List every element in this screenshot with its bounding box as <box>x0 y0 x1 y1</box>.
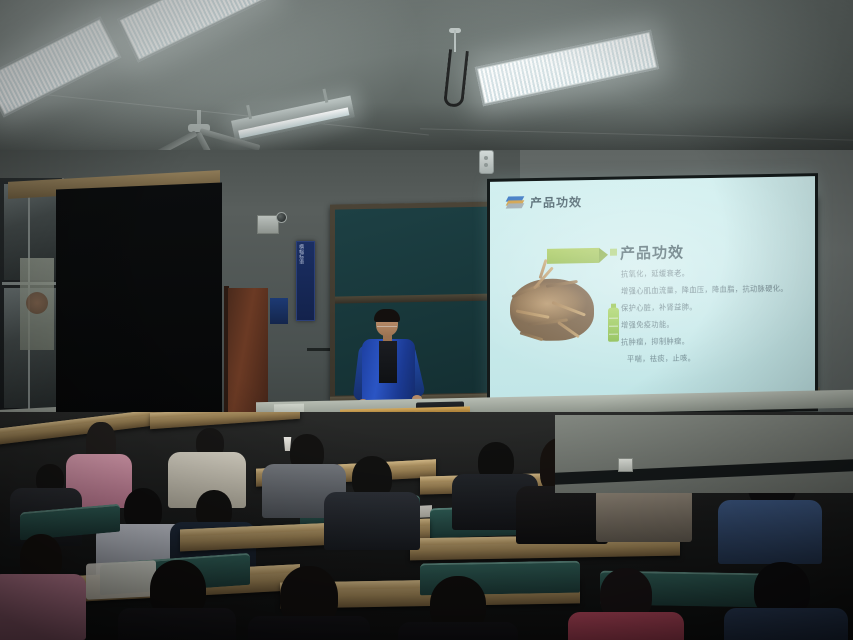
supplement-bottle-graphic <box>608 304 619 342</box>
slide-body-title: 产品功效 <box>620 241 684 263</box>
green-ribbon-accent <box>547 248 599 264</box>
screen-surface: 产品功效 <box>490 176 815 408</box>
poster-graphic <box>26 292 48 314</box>
presentation-slide: 产品功效 <box>490 176 815 408</box>
wall-sensor <box>479 150 494 174</box>
audience-body <box>516 486 608 544</box>
audience-body <box>398 622 518 640</box>
vertical-wall-banner: 横幅标语 <box>296 241 315 321</box>
slide-header: 产品功效 <box>507 193 582 211</box>
presenter-shirt <box>379 341 397 383</box>
lecture-hall-photo: 横幅标语 6 29 25% V V V 产品功效 <box>0 0 853 640</box>
glasses-icon <box>377 321 397 327</box>
audience-body <box>248 616 370 640</box>
audience-body <box>724 608 848 640</box>
blackout-curtain <box>56 183 222 420</box>
handrail <box>307 348 331 351</box>
bottle-band <box>609 334 618 335</box>
slide-bullet: 平喘，祛痰，止咳。 <box>621 351 806 363</box>
book-icon-layer <box>506 203 525 208</box>
sensor-led <box>484 156 488 160</box>
desk-surface <box>150 412 300 418</box>
sensor-led <box>484 163 488 167</box>
paper-bag <box>86 560 156 600</box>
cordyceps-pile-photo <box>506 264 598 352</box>
slide-bullet: 保护心脏，补肾益肺。 <box>621 300 806 312</box>
audience-body <box>324 492 420 550</box>
audience-body <box>568 612 684 640</box>
slide-header-title: 产品功效 <box>530 193 582 211</box>
banner-text: 横幅标语 <box>297 242 305 266</box>
book-icon <box>507 196 524 209</box>
slide-bullet-list: 抗氧化，延缓衰老。 增强心肌血流量，降血压，降血脂，抗动脉硬化。 保护心脏，补肾… <box>621 266 806 371</box>
slide-title-marker <box>610 249 617 256</box>
ceiling-camera <box>276 212 287 223</box>
slide-bullet: 抗氧化，延缓衰老。 <box>621 266 806 278</box>
slide-bullet: 抗肿瘤，抑制肿瘤。 <box>621 334 806 346</box>
desk-row <box>150 412 300 429</box>
wall-mounted-blue-box <box>270 298 288 324</box>
audience-body <box>0 574 86 640</box>
audience-body <box>118 608 236 640</box>
slide-bullet: 增强免疫功能。 <box>621 317 806 329</box>
projection-screen: 产品功效 <box>487 173 818 417</box>
light-switch[interactable] <box>618 458 633 472</box>
bottle-band <box>609 326 618 327</box>
bottle-band <box>609 318 618 319</box>
wall-poster <box>20 258 54 350</box>
audience-body <box>718 500 822 564</box>
slide-bullet: 增强心肌血流量，降血压，降血脂，抗动脉硬化。 <box>621 283 806 295</box>
